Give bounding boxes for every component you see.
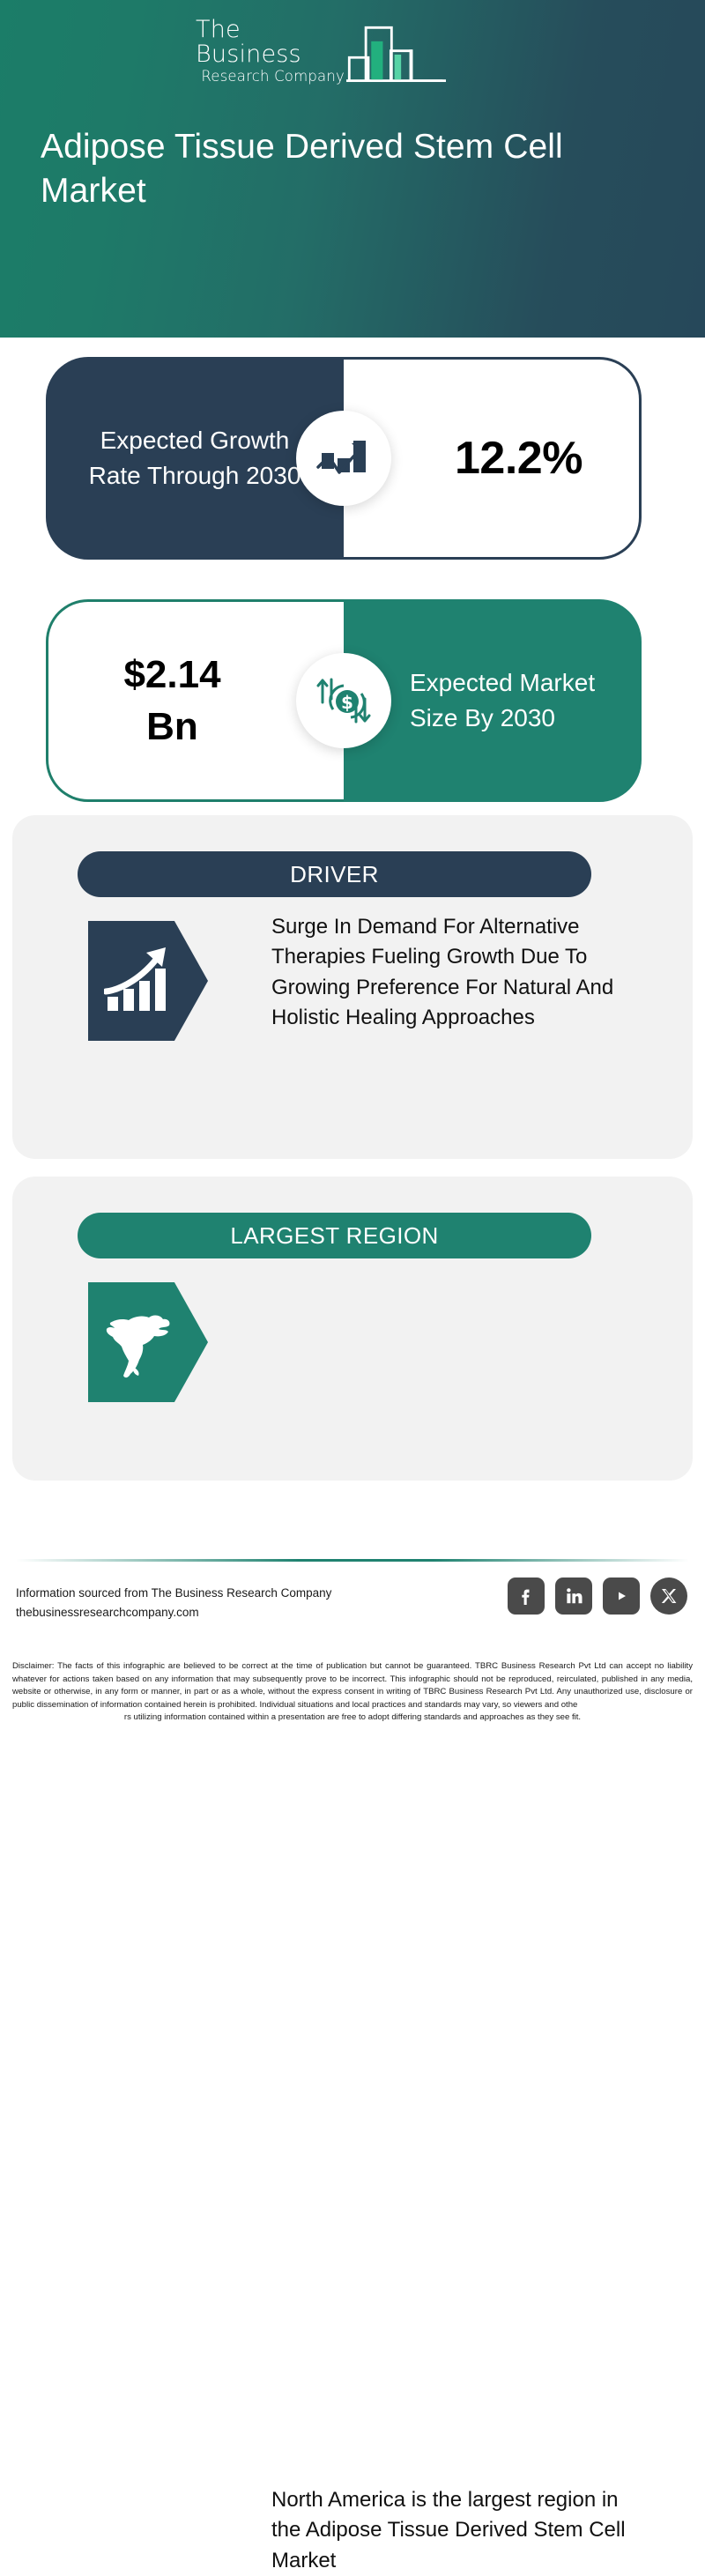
stat-card-growth-rate-label: Expected Growth Rate Through 2030 <box>85 423 305 494</box>
stat-card-growth-rate: Expected Growth Rate Through 2030 12.2% <box>46 357 642 560</box>
logo-line-1: The Business <box>196 18 345 68</box>
driver-pill-label: DRIVER <box>290 861 379 888</box>
social-links <box>508 1578 687 1615</box>
logo-bar-chart-icon <box>346 19 446 88</box>
logo-wordmark: The Business Research Company <box>196 18 345 90</box>
youtube-icon[interactable] <box>603 1578 640 1615</box>
stat-card-growth-rate-value: 12.2% <box>455 432 583 485</box>
largest-region-text: North America is the largest region in t… <box>271 2485 642 2576</box>
largest-region-pill-label: LARGEST REGION <box>230 1222 438 1250</box>
footer-source-line1: Information sourced from The Business Re… <box>16 1584 421 1603</box>
stat-card-market-size-label: Expected Market Size By 2030 <box>410 665 612 736</box>
driver-pill: DRIVER <box>78 851 591 897</box>
footer-divider <box>16 1559 689 1562</box>
company-logo: The Business Research Company <box>196 21 446 90</box>
north-america-map-icon <box>88 1282 208 1402</box>
driver-panel: DRIVER Surge In Demand For Alternative T… <box>12 815 693 1159</box>
page-title: Adipose Tissue Derived Stem Cell Market <box>41 125 664 213</box>
footer-source-website[interactable]: thebusinessresearchcompany.com <box>16 1603 421 1622</box>
largest-region-pill: LARGEST REGION <box>78 1213 591 1258</box>
largest-region-panel: LARGEST REGION North America is the larg… <box>12 1177 693 1481</box>
dollar-cycle-icon: $ <box>296 653 391 748</box>
disclaimer-text: Disclaimer: The facts of this infographi… <box>12 1660 693 1725</box>
linkedin-icon[interactable] <box>555 1578 592 1615</box>
stat-card-market-size: $2.14 Bn Expected Market Size By 2030 $ <box>46 599 642 802</box>
stat-card-market-size-value-line2: Bn <box>123 701 220 753</box>
x-twitter-icon[interactable] <box>650 1578 687 1615</box>
facebook-icon[interactable] <box>508 1578 545 1615</box>
logo-line-2: Research Company <box>201 68 345 85</box>
disclaimer-last-line: rs utilizing information contained withi… <box>12 1711 693 1725</box>
stat-card-market-size-value: $2.14 Bn <box>123 649 220 753</box>
rising-bar-chart-icon <box>88 921 208 1041</box>
disclaimer-main: Disclaimer: The facts of this infographi… <box>12 1661 693 1710</box>
footer-source: Information sourced from The Business Re… <box>16 1584 421 1622</box>
header-banner: The Business Research Company Adipose Ti… <box>0 0 705 338</box>
stat-card-market-size-value-line1: $2.14 <box>123 649 220 701</box>
growth-bar-chart-arrow-icon <box>296 411 391 506</box>
svg-text:$: $ <box>341 692 353 713</box>
driver-text: Surge In Demand For Alternative Therapie… <box>271 912 642 1033</box>
